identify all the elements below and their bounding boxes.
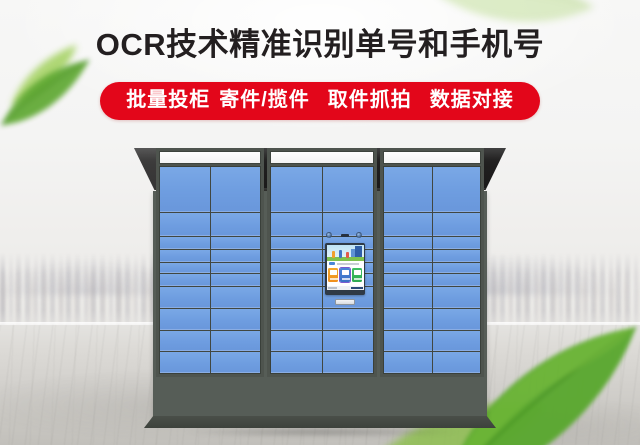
cabinet-left	[156, 148, 264, 377]
cabinet-left-door-grid	[159, 166, 261, 374]
locker-door[interactable]	[160, 167, 210, 212]
locker-door[interactable]	[323, 352, 374, 373]
camera-right-icon	[356, 232, 362, 238]
locker-door[interactable]	[271, 263, 322, 274]
locker-door[interactable]	[211, 274, 261, 286]
locker-door[interactable]	[384, 167, 432, 212]
locker-row	[160, 250, 260, 262]
locker-door[interactable]	[160, 213, 210, 236]
locker-door[interactable]	[211, 331, 261, 351]
locker-door[interactable]	[323, 167, 374, 212]
kiosk-button-send[interactable]	[352, 268, 362, 282]
kiosk-banner-illustration	[327, 245, 364, 261]
locker-door[interactable]	[433, 287, 481, 307]
locker-door[interactable]	[384, 352, 432, 373]
locker-row	[384, 331, 480, 351]
locker-door[interactable]	[433, 167, 481, 212]
locker-door[interactable]	[271, 167, 322, 212]
feature-badge-wrap: 批量投柜寄件/揽件取件抓拍数据对接	[0, 82, 640, 120]
badge-item-0: 批量投柜	[126, 89, 210, 111]
kiosk-notice-bar	[327, 261, 364, 267]
locker-row	[384, 250, 480, 262]
locker-door[interactable]	[384, 213, 432, 236]
locker-door[interactable]	[211, 287, 261, 307]
page-title: OCR技术精准识别单号和手机号	[0, 24, 640, 66]
locker-door[interactable]	[271, 274, 322, 286]
locker-row	[384, 213, 480, 236]
scene-root: OCR技术精准识别单号和手机号 批量投柜寄件/揽件取件抓拍数据对接	[0, 0, 640, 445]
locker-door[interactable]	[384, 263, 432, 274]
locker-door[interactable]	[160, 309, 210, 330]
cabinet-right-door-grid	[383, 166, 481, 374]
locker-door[interactable]	[433, 213, 481, 236]
locker-door[interactable]	[160, 352, 210, 373]
locker-row	[384, 352, 480, 373]
kiosk-sensor-bar	[323, 231, 367, 240]
locker-row	[160, 309, 260, 330]
locker-door[interactable]	[160, 250, 210, 262]
locker-row	[271, 331, 373, 351]
kiosk-button-deposit[interactable]	[328, 268, 338, 282]
locker-door[interactable]	[211, 213, 261, 236]
kiosk-panel[interactable]	[325, 243, 365, 295]
locker-door[interactable]	[211, 309, 261, 330]
locker-door[interactable]	[433, 250, 481, 262]
locker-row	[160, 213, 260, 236]
locker-door[interactable]	[160, 274, 210, 286]
locker-door[interactable]	[271, 309, 322, 330]
kiosk-card-slot[interactable]	[335, 299, 355, 305]
locker-door[interactable]	[384, 287, 432, 307]
badge-item-1: 寄件/揽件	[219, 89, 310, 111]
locker-row	[271, 167, 373, 212]
locker-door[interactable]	[271, 237, 322, 249]
kiosk-button-pickup[interactable]	[340, 268, 350, 282]
express-locker	[140, 148, 500, 430]
locker-row	[160, 287, 260, 307]
locker-row	[384, 237, 480, 249]
locker-row	[160, 237, 260, 249]
badge-item-2: 取件抓拍	[328, 89, 412, 111]
locker-row	[160, 263, 260, 274]
cabinet-center-header-strip	[270, 151, 374, 164]
locker-door[interactable]	[160, 331, 210, 351]
camera-left-icon	[326, 232, 332, 238]
locker-row	[384, 287, 480, 307]
locker-door[interactable]	[433, 237, 481, 249]
locker-door[interactable]	[433, 331, 481, 351]
locker-door[interactable]	[271, 331, 322, 351]
locker-door[interactable]	[433, 309, 481, 330]
locker-row	[271, 352, 373, 373]
kiosk-terminal[interactable]	[323, 231, 367, 305]
kiosk-status-bar	[327, 286, 364, 290]
locker-door[interactable]	[433, 274, 481, 286]
locker-row	[160, 331, 260, 351]
locker-row	[384, 263, 480, 274]
cabinet-right	[380, 148, 484, 377]
locker-door[interactable]	[160, 237, 210, 249]
locker-door[interactable]	[271, 352, 322, 373]
locker-row	[384, 167, 480, 212]
locker-door[interactable]	[271, 287, 322, 307]
locker-door[interactable]	[271, 250, 322, 262]
locker-door[interactable]	[211, 237, 261, 249]
cabinet-right-header-strip	[383, 151, 481, 164]
locker-row	[160, 167, 260, 212]
locker-door[interactable]	[384, 237, 432, 249]
locker-row	[384, 309, 480, 330]
locker-door[interactable]	[384, 331, 432, 351]
locker-door[interactable]	[384, 250, 432, 262]
badge-item-3: 数据对接	[430, 89, 514, 111]
locker-door[interactable]	[384, 309, 432, 330]
locker-door[interactable]	[211, 250, 261, 262]
locker-door[interactable]	[211, 167, 261, 212]
kiosk-action-buttons	[328, 268, 362, 282]
locker-row	[160, 352, 260, 373]
locker-door[interactable]	[211, 263, 261, 274]
locker-door[interactable]	[211, 352, 261, 373]
locker-base-plinth	[144, 416, 496, 428]
cabinet-left-header-strip	[159, 151, 261, 164]
locker-door[interactable]	[160, 263, 210, 274]
feature-badge: 批量投柜寄件/揽件取件抓拍数据对接	[100, 82, 540, 120]
locker-door[interactable]	[323, 331, 374, 351]
locker-row	[160, 274, 260, 286]
kiosk-screen[interactable]	[327, 245, 364, 290]
locker-row	[384, 274, 480, 286]
locker-door[interactable]	[384, 274, 432, 286]
locker-row	[271, 309, 373, 330]
ir-slit-icon	[341, 234, 349, 237]
locker-door[interactable]	[433, 352, 481, 373]
locker-door[interactable]	[323, 309, 374, 330]
locker-door[interactable]	[433, 263, 481, 274]
locker-door[interactable]	[160, 287, 210, 307]
locker-door[interactable]	[271, 213, 322, 236]
